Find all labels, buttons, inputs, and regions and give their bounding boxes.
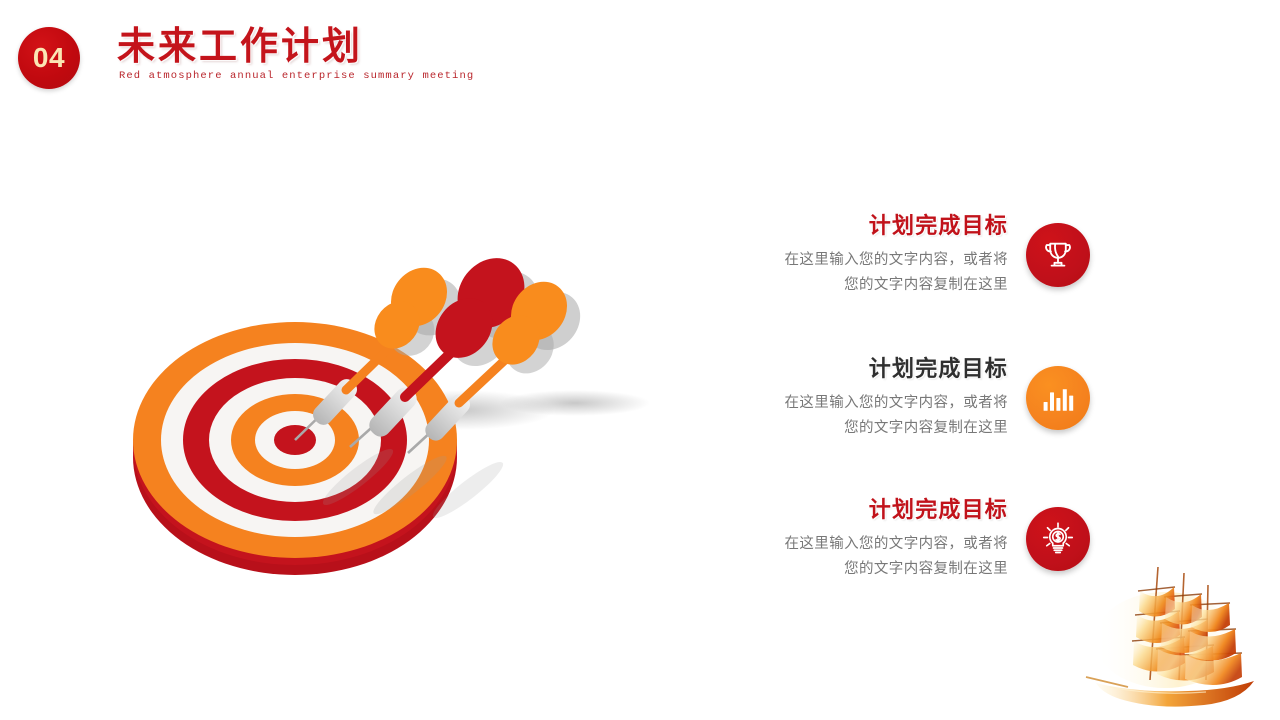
- block-body-line: 在这里输入您的文字内容，或者将: [690, 532, 1008, 557]
- page-subtitle: Red atmosphere annual enterprise summary…: [119, 70, 474, 82]
- page-title: 未来工作计划: [117, 28, 474, 68]
- ship-hull-highlight: [1110, 687, 1206, 693]
- content-block-3[interactable]: 计划完成目标 在这里输入您的文字内容，或者将 您的文字内容复制在这里: [690, 484, 1090, 594]
- bar-chart-icon[interactable]: [1026, 366, 1090, 430]
- block-title-2: 计划完成目标: [690, 355, 1008, 383]
- block-body-line: 您的文字内容复制在这里: [690, 557, 1008, 582]
- block-text-2: 计划完成目标 在这里输入您的文字内容，或者将 您的文字内容复制在这里: [690, 355, 1026, 441]
- ship-bowsprit: [1086, 677, 1128, 687]
- block-body-line: 您的文字内容复制在这里: [690, 416, 1008, 441]
- ship-sails: [1133, 587, 1242, 685]
- dartboard-body: [133, 322, 457, 575]
- header-text-group: 未来工作计划 Red atmosphere annual enterprise …: [117, 28, 474, 82]
- content-block-2[interactable]: 计划完成目标 在这里输入您的文字内容，或者将 您的文字内容复制在这里: [690, 343, 1090, 453]
- ship-hull: [1096, 681, 1254, 707]
- ship-yards: [1132, 587, 1242, 655]
- block-body-3: 在这里输入您的文字内容，或者将 您的文字内容复制在这里: [690, 532, 1008, 582]
- sailing-ship-illustration: [1080, 545, 1280, 720]
- lightbulb-dollar-icon[interactable]: [1026, 507, 1090, 571]
- block-body-line: 您的文字内容复制在这里: [690, 273, 1008, 298]
- board-ground-shadow-2: [500, 390, 650, 416]
- block-body-1: 在这里输入您的文字内容，或者将 您的文字内容复制在这里: [690, 248, 1008, 298]
- dartboard-illustration: [120, 185, 660, 615]
- block-body-2: 在这里输入您的文字内容，或者将 您的文字内容复制在这里: [690, 391, 1008, 441]
- section-number-label: 04: [33, 44, 65, 72]
- block-body-line: 在这里输入您的文字内容，或者将: [690, 391, 1008, 416]
- block-text-3: 计划完成目标 在这里输入您的文字内容，或者将 您的文字内容复制在这里: [690, 496, 1026, 582]
- ship-masts: [1150, 567, 1208, 680]
- section-number-badge: 04: [18, 27, 80, 89]
- content-block-1[interactable]: 计划完成目标 在这里输入您的文字内容，或者将 您的文字内容复制在这里: [690, 200, 1090, 310]
- block-body-line: 在这里输入您的文字内容，或者将: [690, 248, 1008, 273]
- trophy-icon[interactable]: [1026, 223, 1090, 287]
- block-title-1: 计划完成目标: [690, 212, 1008, 240]
- block-title-3: 计划完成目标: [690, 496, 1008, 524]
- slide-header: 04 未来工作计划 Red atmosphere annual enterpri…: [0, 0, 1280, 110]
- block-text-1: 计划完成目标 在这里输入您的文字内容，或者将 您的文字内容复制在这里: [690, 212, 1026, 298]
- ship-glow: [1095, 592, 1235, 688]
